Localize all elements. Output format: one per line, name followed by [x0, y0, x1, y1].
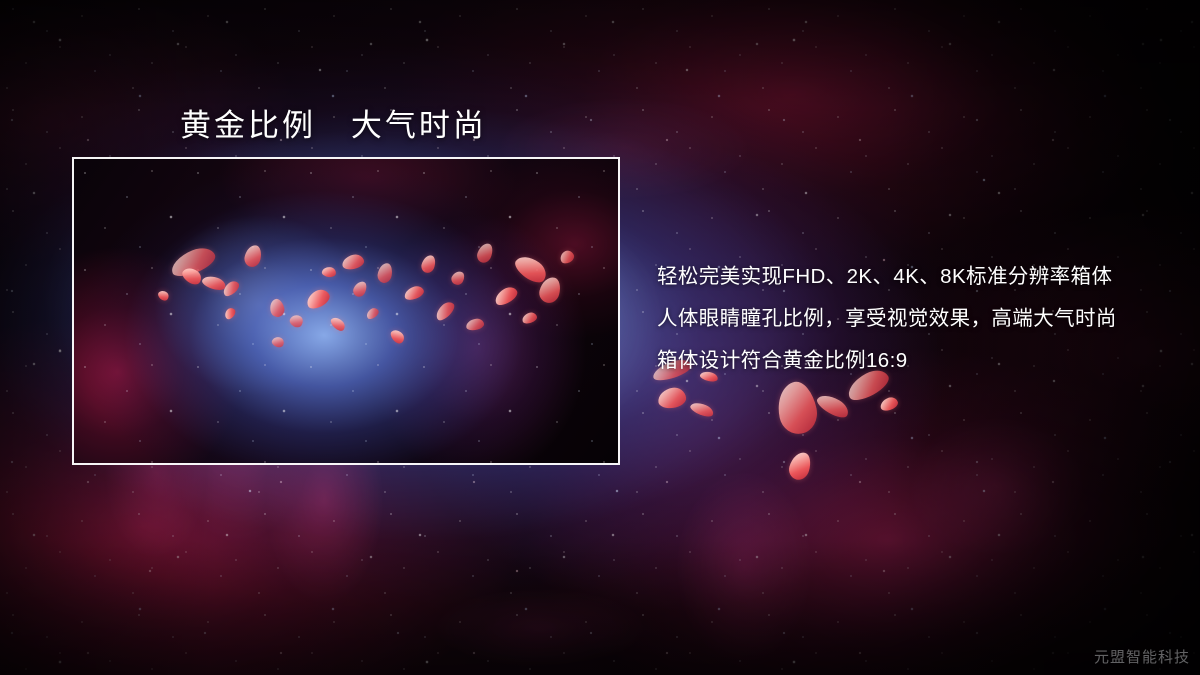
watermark-label: 元盟智能科技 [1094, 646, 1190, 667]
panel-starfield [74, 159, 618, 463]
body-line-3: 箱体设计符合黄金比例16:9 [657, 340, 1167, 382]
page-title: 黄金比例 大气时尚 [180, 100, 487, 145]
flower-petal [814, 391, 851, 422]
framed-image-panel [72, 157, 620, 465]
flower-petal [787, 450, 814, 482]
flower-petal [773, 379, 821, 438]
flower-petal [689, 400, 715, 419]
body-line-1: 轻松完美实现FHD、2K、4K、8K标准分辨率箱体 [657, 256, 1167, 298]
flower-petal [878, 395, 899, 412]
body-line-2: 人体眼睛瞳孔比例，享受视觉效果，高端大气时尚 [657, 298, 1167, 340]
flower-petal [657, 386, 688, 410]
body-copy-block: 轻松完美实现FHD、2K、4K、8K标准分辨率箱体 人体眼睛瞳孔比例，享受视觉效… [657, 256, 1167, 382]
presentation-slide: 黄金比例 大气时尚 轻松完美实现FHD、2K、4K、8K标准分辨率箱体 人体眼睛… [0, 0, 1200, 675]
